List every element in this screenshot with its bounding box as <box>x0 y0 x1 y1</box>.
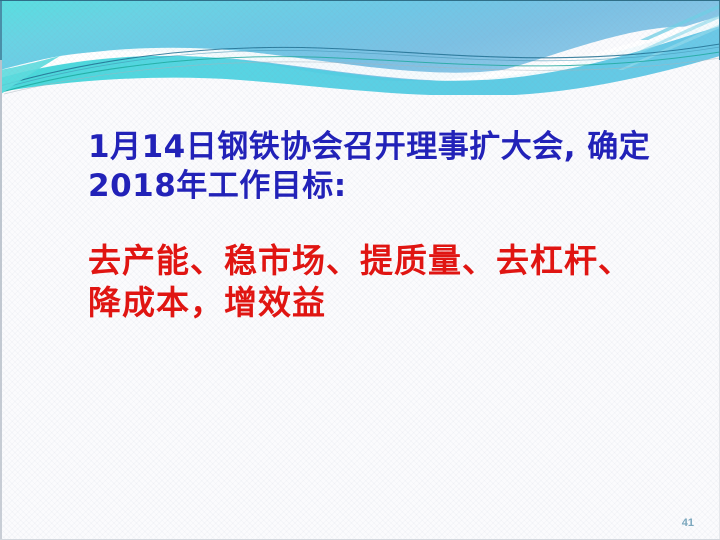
paragraph-spacer <box>88 206 664 240</box>
presentation-slide: 1月14日钢铁协会召开理事扩大会, 确定2018年工作目标: 去产能、稳市场、提… <box>0 0 720 540</box>
slide-border-left <box>0 0 2 540</box>
slide-body: 1月14日钢铁协会召开理事扩大会, 确定2018年工作目标: 去产能、稳市场、提… <box>88 128 664 324</box>
goals-paragraph: 去产能、稳市场、提质量、去杠杆、降成本，增效益 <box>88 240 664 324</box>
page-number: 41 <box>682 517 694 529</box>
decorative-wave-banner <box>0 0 720 95</box>
headline-paragraph: 1月14日钢铁协会召开理事扩大会, 确定2018年工作目标: <box>88 128 664 206</box>
slide-border-top <box>0 0 720 1</box>
